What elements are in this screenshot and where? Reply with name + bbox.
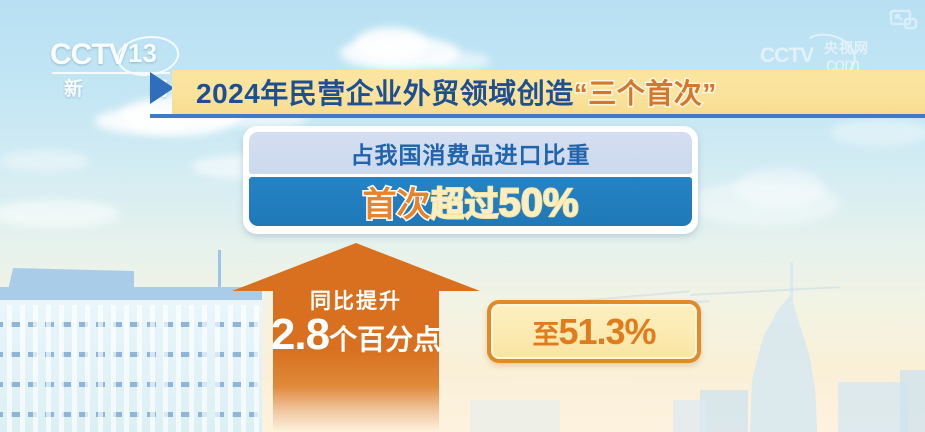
skyline-building-right-1 (838, 382, 908, 432)
statistic-card: 占我国消费品进口比重 首次超过50% (243, 126, 698, 234)
skyline-building-right-4 (900, 370, 925, 432)
statistic-card-header: 占我国消费品进口比重 (249, 132, 692, 174)
statistic-card-heading: 占我国消费品进口比重 (351, 136, 591, 170)
growth-arrow-value: 2.8个百分点 (243, 310, 469, 360)
headline-quoted: “三个首次” (574, 78, 717, 109)
wisp-line-3 (690, 286, 840, 295)
skyline-left-mullions (0, 305, 262, 432)
skyline-tower-sail (750, 295, 846, 432)
growth-arrow-number: 2.8 (271, 310, 329, 359)
result-pill-number: 51.3 (558, 311, 624, 352)
statistic-card-value: 首次超过50% (362, 177, 578, 226)
result-pill-percent: % (625, 311, 656, 352)
skyline-building-right-3 (673, 400, 707, 432)
statistic-value-percent: % (543, 181, 579, 225)
statistic-value-middle: 超过 (430, 186, 498, 224)
broadcast-graphic-stage: CCTV 13 新 闻 CCTV 央视网 com 2024年民营企业外贸领域创造… (0, 0, 925, 432)
headline-underline (150, 114, 925, 118)
skyline-building-middle (470, 400, 560, 432)
statistic-card-body: 首次超过50% (249, 177, 692, 226)
growth-arrow-unit: 个百分点 (329, 324, 441, 355)
skyline-building-right-2 (700, 390, 748, 432)
growth-arrow-head (232, 243, 480, 291)
result-pill-prefix: 至 (532, 320, 558, 350)
play-triangle-icon (150, 72, 174, 104)
headline-text: 2024年民营企业外贸领域创造“三个首次” (196, 72, 717, 112)
picture-in-picture-icon[interactable] (889, 8, 919, 32)
skyline-tower-spire (790, 262, 793, 302)
cctv-channel-number: 13 (128, 38, 157, 69)
result-pill-text: 至51.3% (532, 311, 655, 353)
statistic-value-highlight: 首次 (362, 186, 430, 224)
cctv-news-char-1: 新 (64, 74, 83, 101)
headline-banner: 2024年民营企业外贸领域创造“三个首次” (172, 70, 925, 114)
result-pill: 至51.3% (487, 300, 701, 363)
headline-plain: 2024年民营企业外贸领域创造 (196, 78, 574, 109)
statistic-value-number: 50 (498, 181, 543, 225)
